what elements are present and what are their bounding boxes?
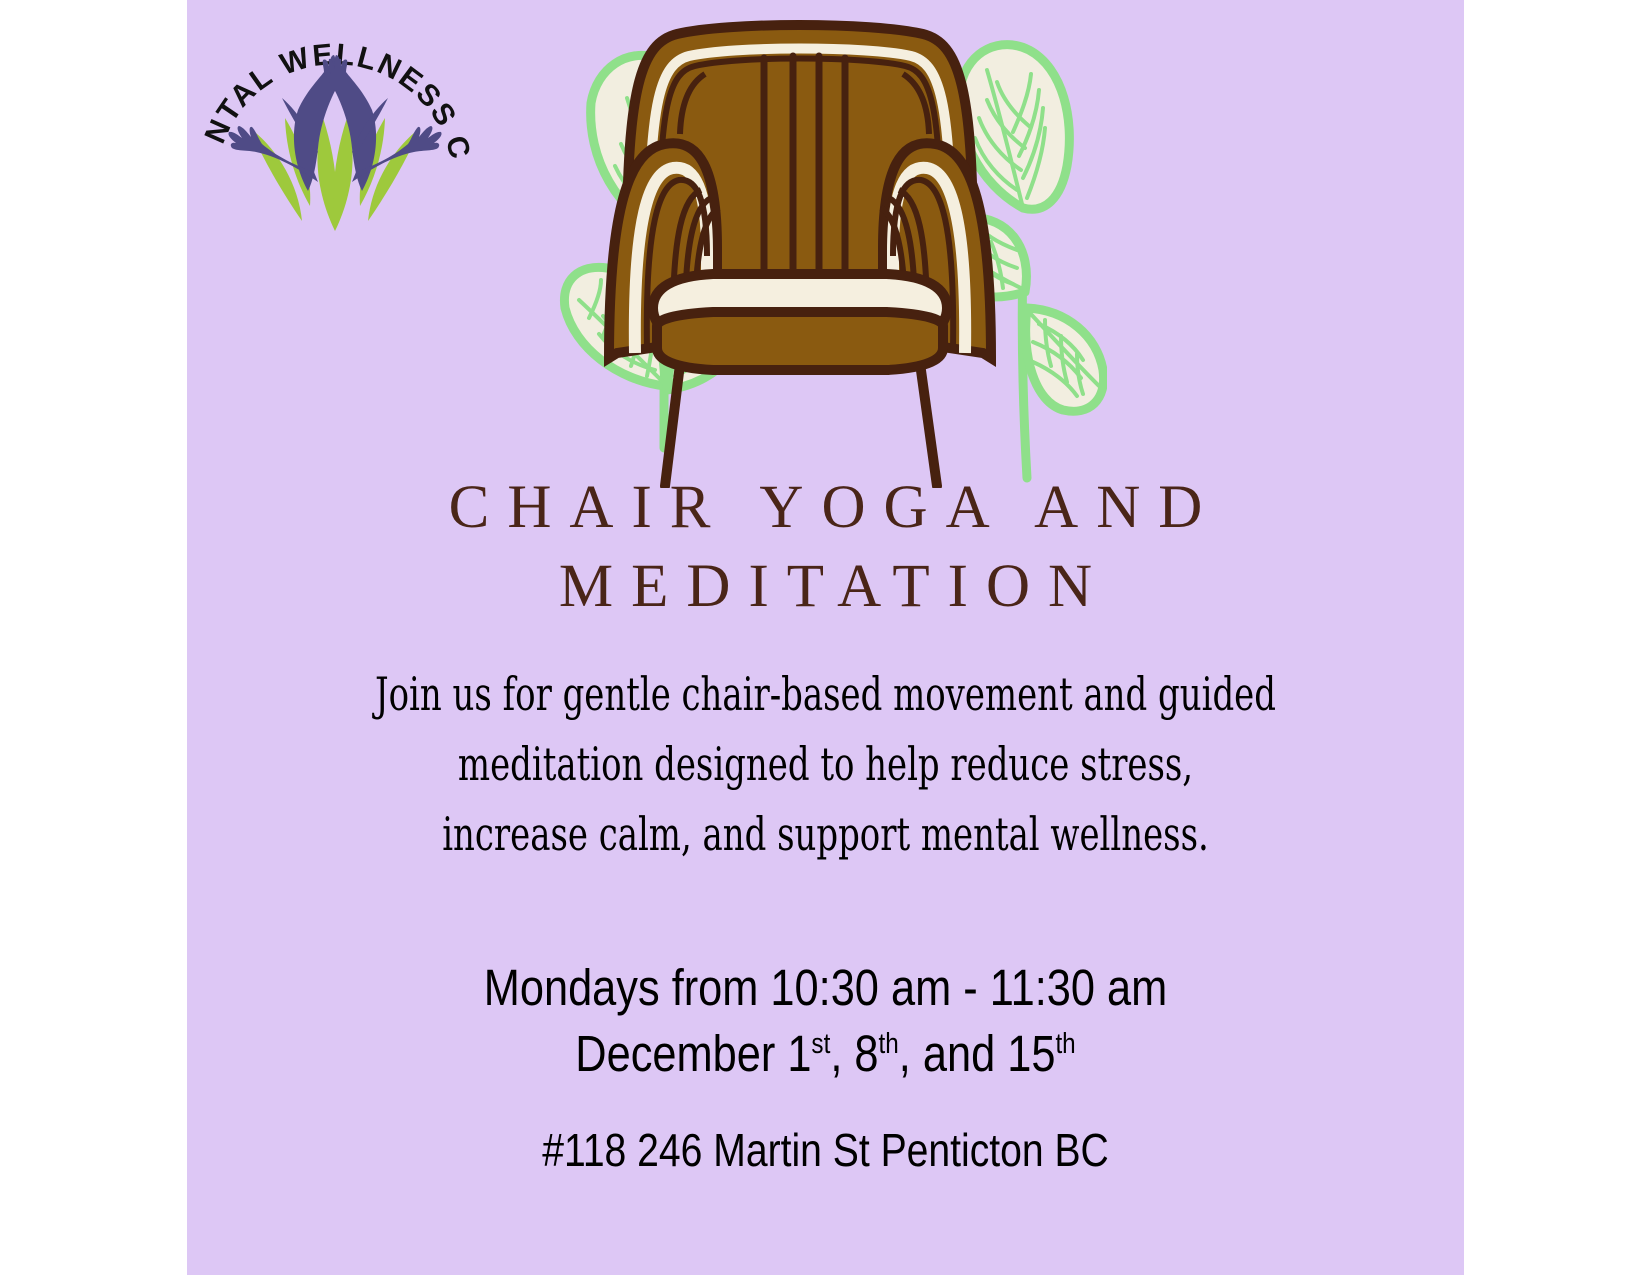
description-line-1: Join us for gentle chair-based movement … [322,660,1328,730]
poster-schedule: Mondays from 10:30 am - 11:30 am Decembe… [212,955,1439,1088]
ordinal-8th: th [879,1028,899,1060]
title-line-2: MEDITATION [187,547,1464,626]
poster-page: SOS MENTAL WELLNESS CENTRE [0,0,1650,1275]
title-line-1: CHAIR YOGA AND [187,468,1464,547]
chair-and-leaves-illustration [467,8,1107,488]
date-mid-1: , 8 [830,1025,878,1082]
sos-mental-wellness-centre-logo: SOS MENTAL WELLNESS CENTRE [190,6,480,246]
chair-seat-front [657,312,943,370]
logo-green-leaves [250,118,420,231]
poster-canvas: SOS MENTAL WELLNESS CENTRE [187,0,1464,1275]
date-prefix: December 1 [575,1025,811,1082]
description-line-3: increase calm, and support mental wellne… [322,800,1328,870]
schedule-date-line: December 1st, 8th, and 15th [304,1021,1347,1087]
description-line-2: meditation designed to help reduce stres… [322,730,1328,800]
ordinal-1st: st [811,1028,830,1060]
date-mid-2: , and 15 [899,1025,1056,1082]
poster-title: CHAIR YOGA AND MEDITATION [187,468,1464,627]
poster-description: Join us for gentle chair-based movement … [212,660,1439,870]
ordinal-15th: th [1055,1028,1075,1060]
poster-address: #118 246 Martin St Penticton BC [212,1123,1439,1177]
address-line: #118 246 Martin St Penticton BC [304,1123,1347,1177]
schedule-time-line: Mondays from 10:30 am - 11:30 am [304,955,1347,1021]
